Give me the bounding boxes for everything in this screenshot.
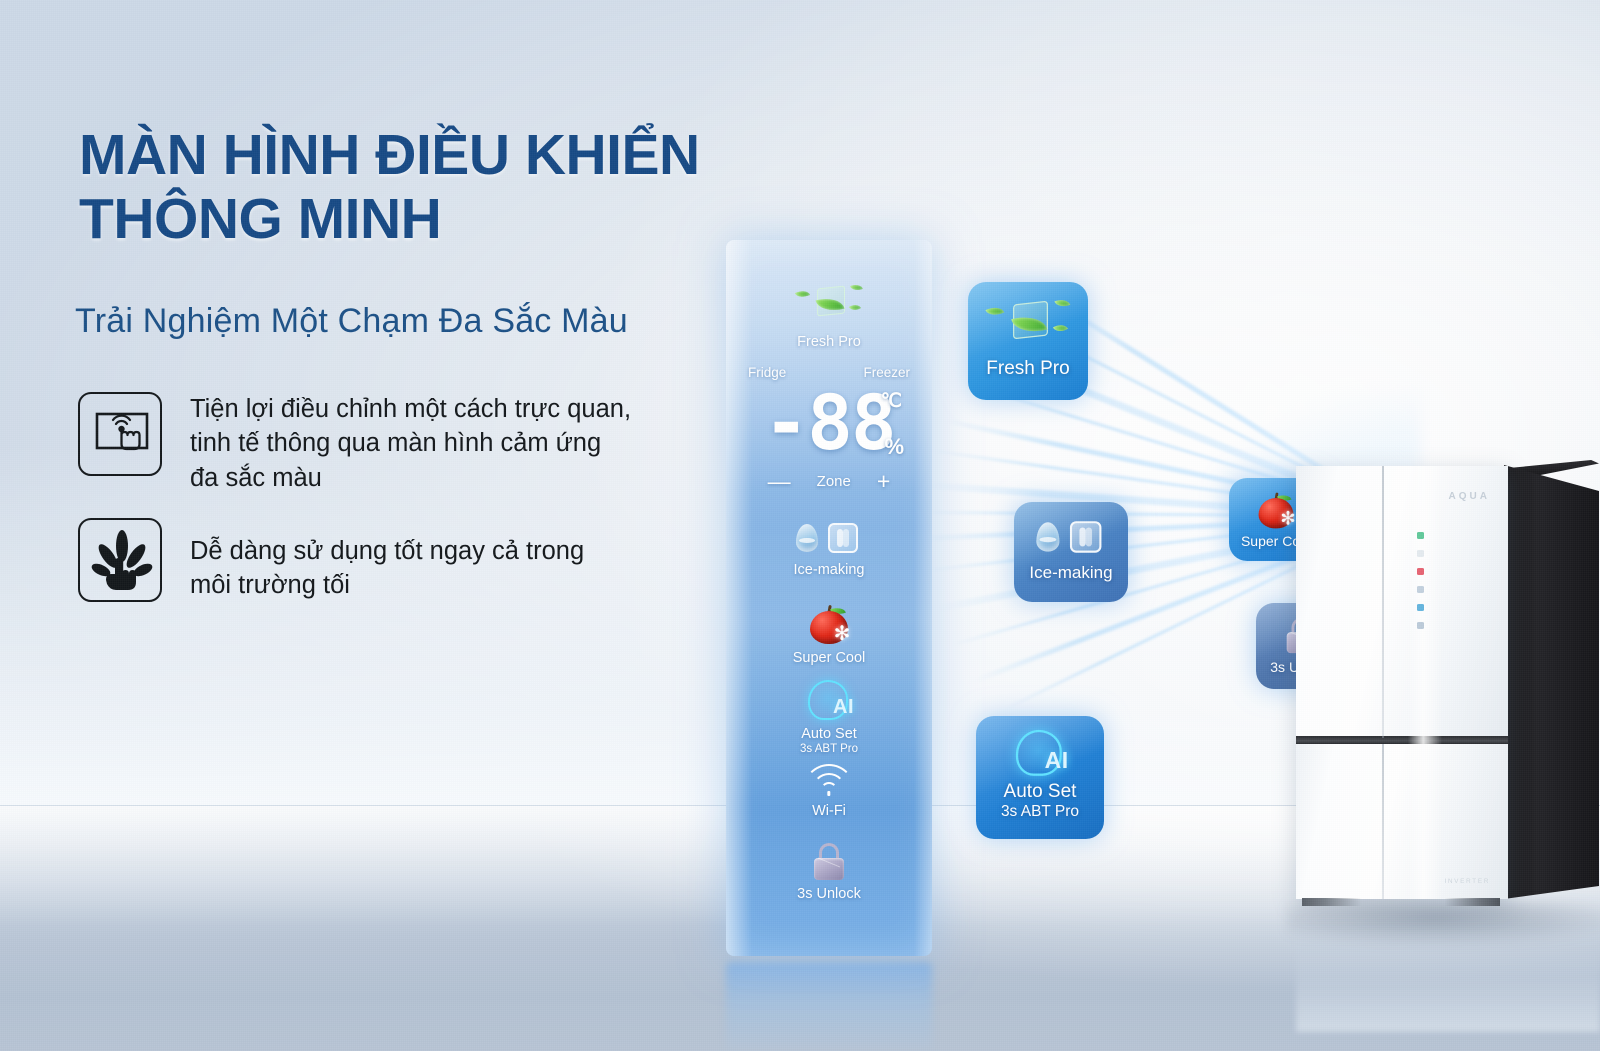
percent-unit: % bbox=[884, 434, 904, 460]
tile-auto-set[interactable]: AI Auto Set 3s ABT Pro bbox=[976, 716, 1104, 839]
panel-label: Fresh Pro bbox=[726, 334, 932, 351]
fridge-side-panel bbox=[1504, 465, 1599, 899]
fridge-upper-door-seam bbox=[1382, 466, 1384, 738]
panel-button-ice-making[interactable]: Ice-making bbox=[726, 522, 932, 579]
fridge-upper-doors[interactable] bbox=[1296, 466, 1508, 738]
zone-decrease-button[interactable]: — bbox=[768, 470, 791, 493]
led-white bbox=[1417, 550, 1424, 557]
headline-line-1: MÀN HÌNH ĐIỀU KHIỂN bbox=[79, 124, 899, 188]
fridge-brand-logo: AQUA bbox=[1449, 491, 1490, 502]
touchscreen-icon bbox=[78, 392, 162, 476]
ai-head-icon: AI bbox=[1009, 730, 1071, 778]
panel-label: Ice-making bbox=[726, 562, 932, 579]
wifi-icon bbox=[802, 762, 856, 796]
led-pale bbox=[1417, 622, 1424, 629]
tile-ice-making[interactable]: Ice-making bbox=[1014, 502, 1128, 602]
panel-button-wifi[interactable]: Wi-Fi bbox=[726, 762, 932, 820]
tile-label: Fresh Pro bbox=[986, 358, 1069, 380]
page-title: MÀN HÌNH ĐIỀU KHIỂN THÔNG MINH bbox=[79, 124, 899, 252]
water-drop-ice-cube-icon bbox=[792, 522, 866, 556]
panel-button-fresh-pro[interactable]: Fresh Pro bbox=[726, 282, 932, 351]
scene: MÀN HÌNH ĐIỀU KHIỂN THÔNG MINH Trải Nghi… bbox=[0, 0, 1600, 1051]
led-blue bbox=[1417, 604, 1424, 611]
led-green bbox=[1417, 532, 1424, 539]
panel-label: Auto Set bbox=[726, 726, 932, 743]
temperature-display: Fridge Freezer -88 ℃ % — Zone + bbox=[726, 365, 932, 493]
led-red bbox=[1417, 568, 1424, 575]
fridge-lower-door-seam bbox=[1382, 744, 1384, 899]
feature-row-darkmode: Dễ dàng sử dụng tốt ngay cả trong môi tr… bbox=[78, 518, 584, 603]
feature-row-touchscreen: Tiện lợi điều chỉnh một cách trực quan, … bbox=[78, 392, 631, 495]
water-drop-ice-cube-icon bbox=[1032, 520, 1110, 556]
apple-snowflake-icon: ✻ bbox=[1256, 491, 1296, 530]
leaf-cube-icon bbox=[983, 296, 1073, 354]
celsius-unit: ℃ bbox=[881, 390, 902, 413]
apple-snowflake-icon: ✻ bbox=[807, 603, 851, 645]
ai-head-icon: AI bbox=[802, 680, 856, 722]
fridge-floor-reflection bbox=[1296, 912, 1600, 1032]
fridge-lower-doors[interactable] bbox=[1296, 744, 1508, 899]
zone-label: Zone bbox=[817, 473, 851, 490]
feature-text: Tiện lợi điều chỉnh một cách trực quan, … bbox=[190, 392, 631, 495]
refrigerator: AQUA INVERTER bbox=[1296, 452, 1600, 912]
feature-text: Dễ dàng sử dụng tốt ngay cả trong môi tr… bbox=[190, 534, 584, 603]
padlock-icon bbox=[810, 843, 848, 881]
fridge-badge: INVERTER bbox=[1444, 878, 1490, 885]
panel-label: 3s Unlock bbox=[726, 886, 932, 903]
tile-fresh-pro[interactable]: Fresh Pro bbox=[968, 282, 1088, 400]
temperature-value: -88 bbox=[763, 385, 894, 461]
panel-reflection bbox=[726, 962, 932, 1051]
fridge-front: AQUA INVERTER bbox=[1296, 466, 1508, 899]
fridge-indicator-leds bbox=[1413, 532, 1427, 640]
leaf-cube-icon bbox=[793, 282, 865, 328]
panel-button-auto-set[interactable]: AI Auto Set 3s ABT Pro bbox=[726, 680, 932, 756]
tile-label: Auto Set bbox=[1004, 781, 1077, 803]
tile-sublabel: 3s ABT Pro bbox=[1001, 803, 1079, 822]
control-panel[interactable]: Fresh Pro Fridge Freezer -88 ℃ % — Zone … bbox=[726, 240, 932, 956]
panel-sublabel: 3s ABT Pro bbox=[726, 743, 932, 757]
panel-button-super-cool[interactable]: ✻ Super Cool bbox=[726, 603, 932, 667]
led-grey bbox=[1417, 586, 1424, 593]
panel-label: Super Cool bbox=[726, 650, 932, 667]
fridge-feet bbox=[1302, 898, 1500, 906]
tile-label: Ice-making bbox=[1029, 563, 1112, 583]
zone-increase-button[interactable]: + bbox=[877, 470, 890, 493]
panel-button-unlock[interactable]: 3s Unlock bbox=[726, 843, 932, 903]
night-leaf-hand-icon bbox=[78, 518, 162, 602]
